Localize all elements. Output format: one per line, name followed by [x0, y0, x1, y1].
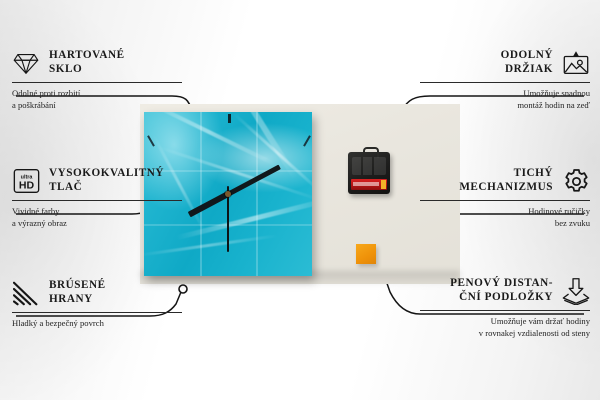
- feature-divider: [420, 310, 590, 311]
- clock-tick: [228, 114, 231, 123]
- feature-header: PENOVÝ DISTAN- ČNÍ PODLOŽKY: [420, 276, 590, 306]
- clock-hour-hand: [188, 191, 230, 217]
- arrow-down-layers-icon: [562, 277, 590, 305]
- mechanism-body-detail: [352, 157, 386, 175]
- feature-description: Umožňuje vám držať hodiny v rovnakej vzd…: [420, 315, 590, 339]
- feature-durable-holder: ODOLNÝ DRŽIAK Umožňuje snadnou montáž ho…: [420, 48, 590, 111]
- feature-title: BRÚSENÉ HRANY: [49, 279, 106, 306]
- ultra-hd-large-text: HD: [18, 180, 34, 192]
- foam-spacer-pad: [356, 244, 376, 264]
- diamond-icon: [12, 49, 40, 77]
- gear-icon: [562, 167, 590, 195]
- feature-tempered-glass: HARTOVANÉ SKLO Odolné proti rozbití a po…: [12, 48, 182, 111]
- product-photo: [140, 104, 460, 284]
- feature-divider: [420, 200, 590, 201]
- feature-title: ODOLNÝ DRŽIAK: [501, 49, 553, 76]
- feature-description: Hladký a bezpečný povrch: [12, 317, 182, 329]
- battery-label: [353, 182, 379, 186]
- diagonal-stripes-icon: [12, 279, 40, 307]
- feature-title: VYSOKOKVALITNÝ TLAČ: [49, 167, 164, 194]
- ultra-hd-icon: ultra HD: [12, 167, 40, 195]
- framed-picture-hanger-icon: [562, 49, 590, 77]
- clock-mechanism: [348, 152, 390, 194]
- feature-divider: [12, 312, 182, 313]
- clock-center-hub: [225, 191, 231, 197]
- feature-header: BRÚSENÉ HRANY: [12, 278, 182, 308]
- glass-seam: [200, 112, 202, 276]
- feature-foam-spacers: PENOVÝ DISTAN- ČNÍ PODLOŽKY Umožňuje vám…: [420, 276, 590, 339]
- feature-divider: [420, 82, 590, 83]
- clock-tick: [303, 135, 311, 146]
- feature-high-quality-print: ultra HD VYSOKOKVALITNÝ TLAČ Vividné far…: [12, 166, 182, 229]
- feature-header: ODOLNÝ DRŽIAK: [420, 48, 590, 78]
- feature-header: ultra HD VYSOKOKVALITNÝ TLAČ: [12, 166, 182, 196]
- feature-divider: [12, 82, 182, 83]
- feature-description: Umožňuje snadnou montáž hodin na zeď: [420, 87, 590, 111]
- feature-divider: [12, 200, 182, 201]
- feature-description: Hodinové ručičky bez zvuku: [420, 205, 590, 229]
- feature-description: Odolné proti rozbití a poškrábání: [12, 87, 182, 111]
- feature-title: PENOVÝ DISTAN- ČNÍ PODLOŽKY: [450, 277, 553, 304]
- feature-title: HARTOVANÉ SKLO: [49, 49, 125, 76]
- feature-header: HARTOVANÉ SKLO: [12, 48, 182, 78]
- infographic-canvas: HARTOVANÉ SKLO Odolné proti rozbití a po…: [0, 0, 600, 400]
- feature-header: TICHÝ MECHANIZMUS: [420, 166, 590, 196]
- feature-title: TICHÝ MECHANIZMUS: [459, 167, 553, 194]
- feature-silent-mechanism: TICHÝ MECHANIZMUS Hodinové ručičky bez z…: [420, 166, 590, 229]
- feature-polished-edges: BRÚSENÉ HRANY Hladký a bezpečný povrch: [12, 278, 182, 329]
- mechanism-battery: [351, 179, 387, 190]
- glass-seam: [256, 112, 258, 276]
- feature-description: Vividné farby a výrazný obraz: [12, 205, 182, 229]
